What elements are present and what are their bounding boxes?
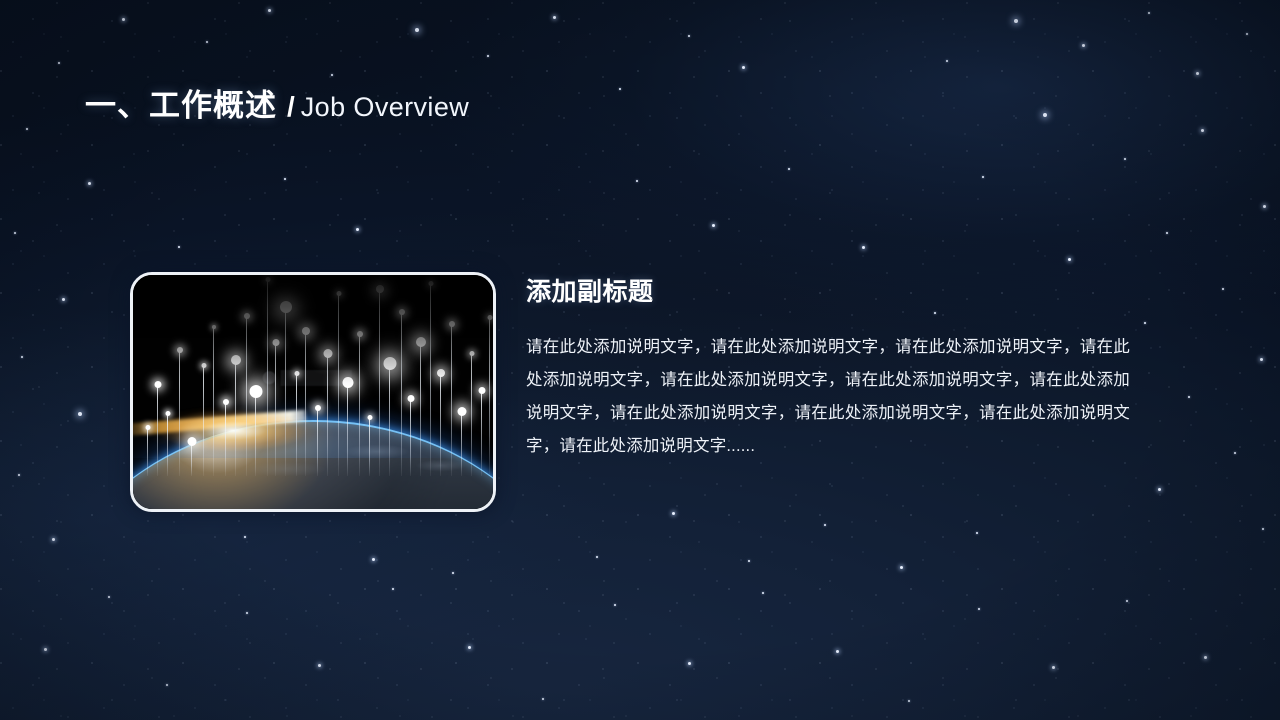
- content-body-text: 请在此处添加说明文字，请在此处添加说明文字，请在此处添加说明文字，请在此处添加说…: [526, 331, 1130, 463]
- page-title-cn: 一、工作概述: [85, 88, 277, 123]
- content-subtitle: 添加副标题: [526, 279, 1130, 307]
- page-title-separator: /: [287, 91, 295, 122]
- light-beams-group: [133, 275, 493, 509]
- page-title: 一、工作概述/Job Overview: [85, 90, 469, 121]
- page-title-en: Job Overview: [301, 92, 469, 122]
- slide-canvas: 一、工作概述/Job Overview: [0, 0, 1280, 720]
- earth-horizon-image: [133, 275, 493, 509]
- content-text-block: 添加副标题 请在此处添加说明文字，请在此处添加说明文字，请在此处添加说明文字，请…: [526, 279, 1130, 463]
- content-image-frame[interactable]: [130, 272, 496, 512]
